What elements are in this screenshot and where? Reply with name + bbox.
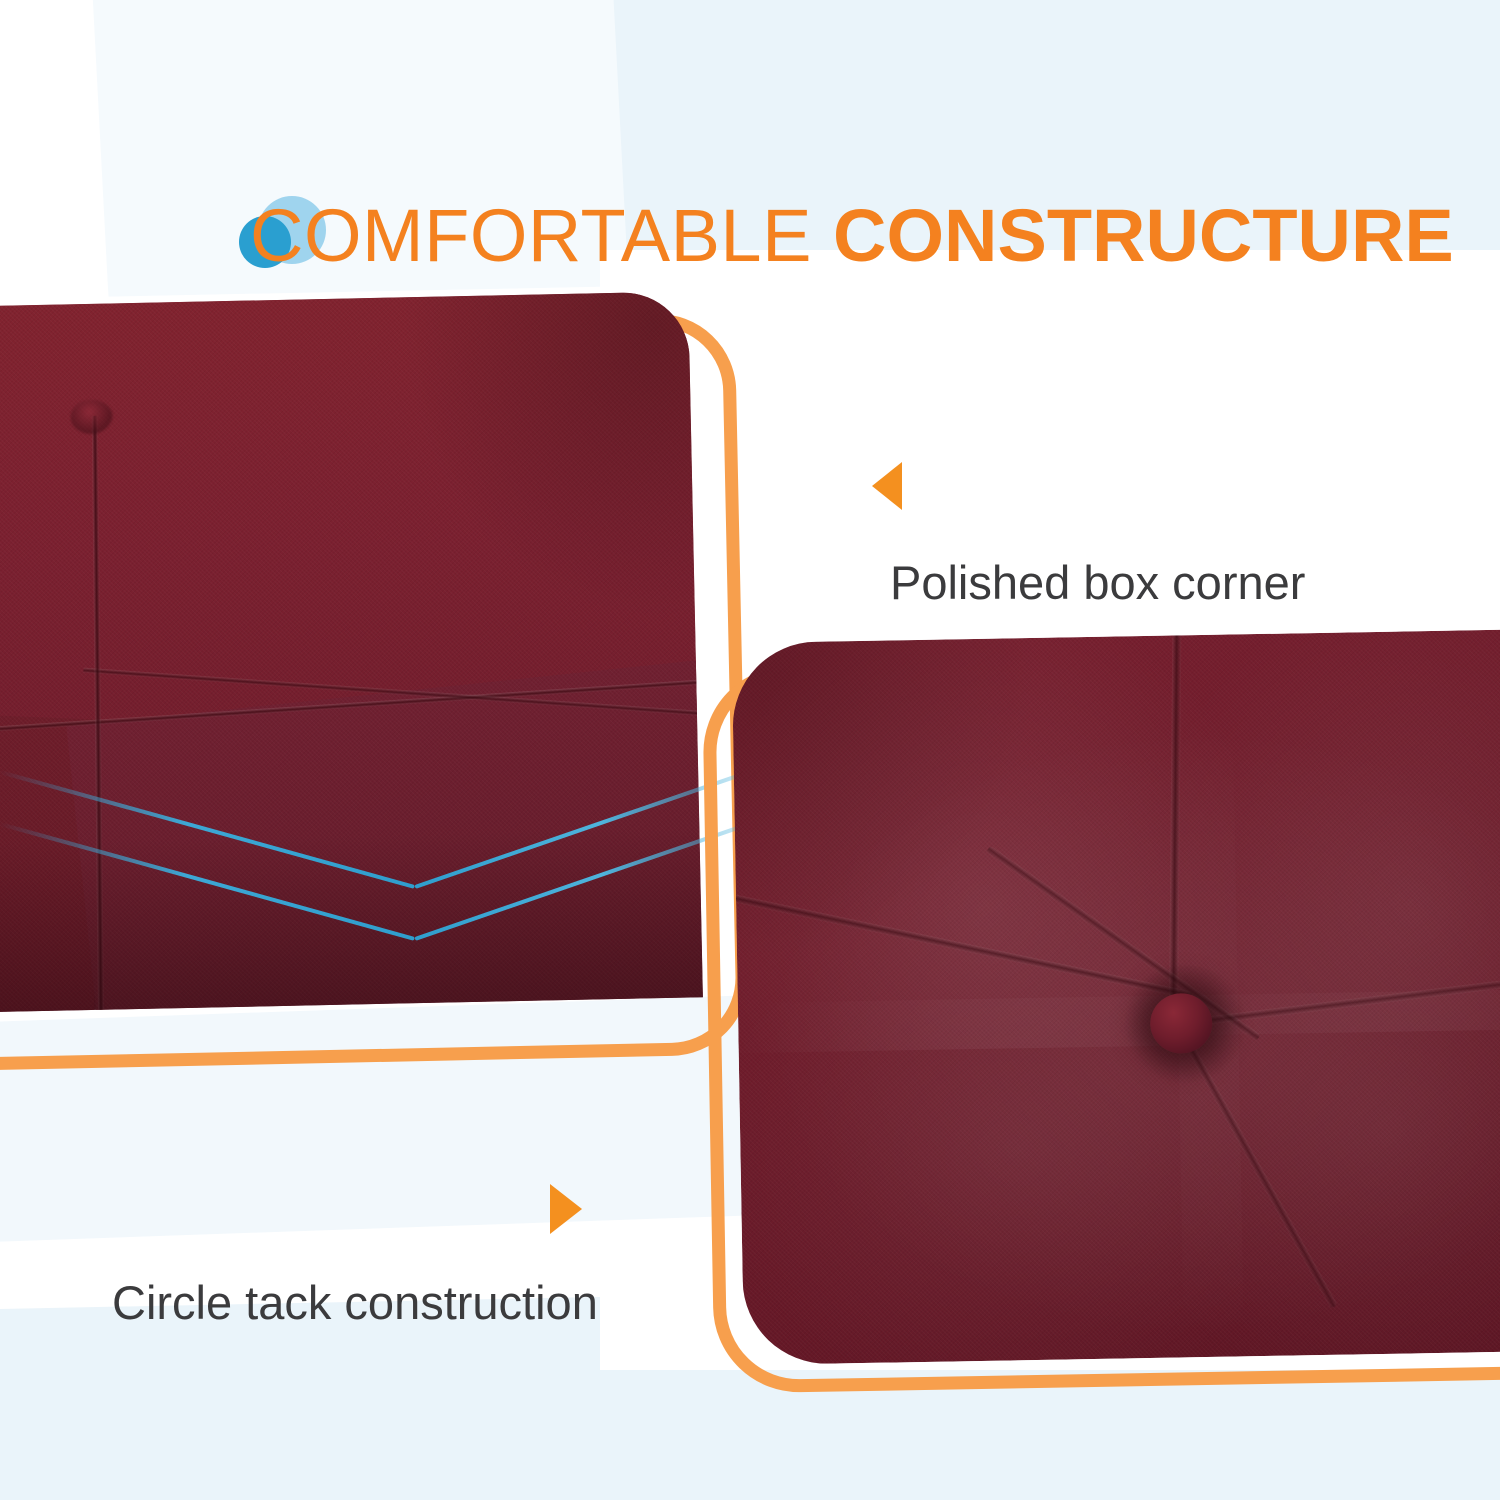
corner-shading xyxy=(732,628,1048,963)
callout-label: Circle tack construction xyxy=(112,1274,598,1332)
page-title: COMFORTABLE CONSTRUCTURE xyxy=(250,188,1410,284)
triangle-left-icon xyxy=(872,462,902,510)
callout-circle-tack-construction: Circle tack construction xyxy=(112,1184,598,1332)
blue-chevron-decoration xyxy=(0,770,760,1040)
page-title-bold: CONSTRUCTURE xyxy=(833,194,1454,277)
page-title-light: COMFORTABLE xyxy=(250,194,812,277)
right-photo-card xyxy=(694,635,1500,1390)
chevron-line-inner xyxy=(0,822,740,972)
circle-tack-cushion-photo xyxy=(732,628,1500,1365)
chevron-left-stroke xyxy=(0,822,415,941)
infographic-canvas: COMFORTABLE CONSTRUCTURE xyxy=(0,0,1500,1500)
callout-label: Polished box corner xyxy=(890,554,1305,612)
corner-shading xyxy=(398,291,703,627)
triangle-right-icon xyxy=(550,1184,582,1234)
callout-polished-box-corner: Polished box corner xyxy=(872,462,1305,612)
header: COMFORTABLE CONSTRUCTURE xyxy=(0,92,1500,202)
